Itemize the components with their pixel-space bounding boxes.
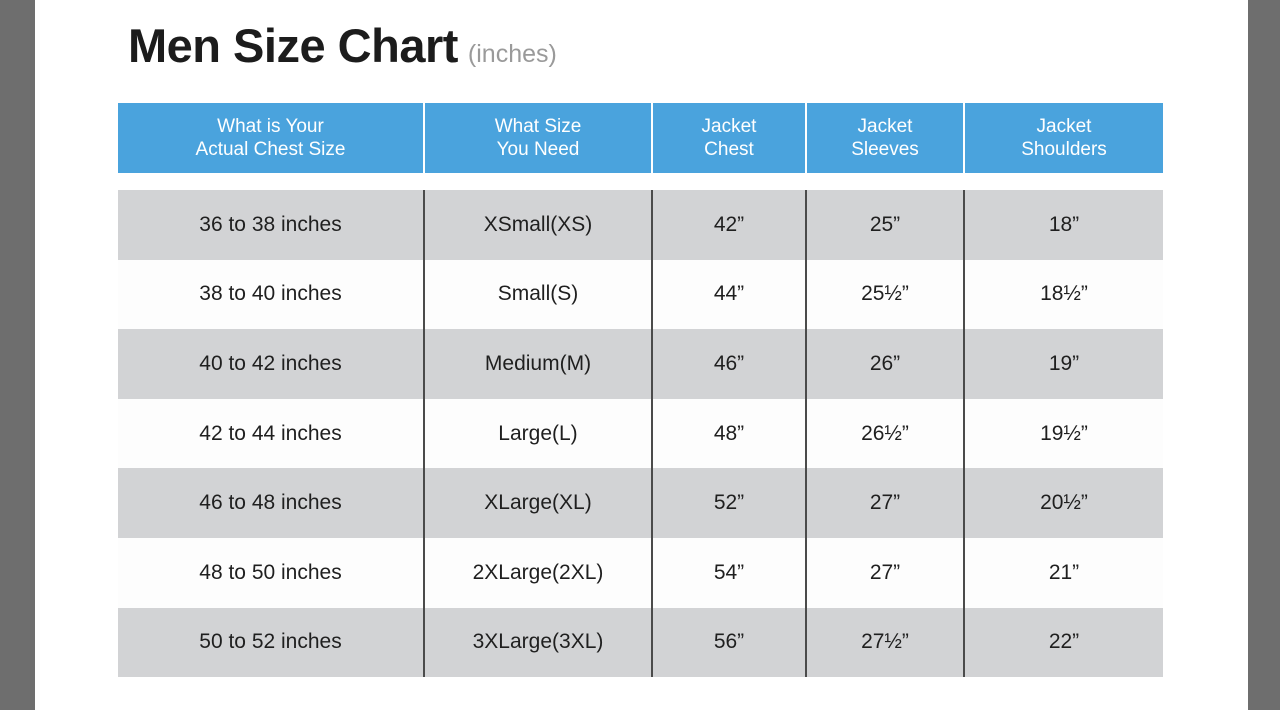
column-header-actual-chest: What is Your Actual Chest Size [118, 103, 425, 173]
cell-actual-chest: 38 to 40 inches [118, 260, 425, 330]
column-header-line-1: What is Your [217, 115, 324, 138]
cell-jacket-chest: 42” [653, 190, 807, 260]
table-row: 36 to 38 inches XSmall(XS) 42” 25” 18” [118, 190, 1163, 260]
cell-jacket-chest: 52” [653, 468, 807, 538]
page-title-main: Men Size Chart [128, 22, 458, 69]
table-row: 48 to 50 inches 2XLarge(2XL) 54” 27” 21” [118, 538, 1163, 608]
cell-actual-chest: 50 to 52 inches [118, 608, 425, 678]
cell-actual-chest: 36 to 38 inches [118, 190, 425, 260]
column-header-jacket-shoulders: Jacket Shoulders [965, 103, 1163, 173]
page-title: Men Size Chart (inches) [128, 22, 557, 69]
cell-jacket-sleeves: 26” [807, 329, 965, 399]
cell-jacket-sleeves: 27½” [807, 608, 965, 678]
table-row: 42 to 44 inches Large(L) 48” 26½” 19½” [118, 399, 1163, 469]
cell-jacket-shoulders: 21” [965, 538, 1163, 608]
column-header-line-2: Sleeves [851, 138, 919, 161]
table-row: 40 to 42 inches Medium(M) 46” 26” 19” [118, 329, 1163, 399]
table-row: 46 to 48 inches XLarge(XL) 52” 27” 20½” [118, 468, 1163, 538]
column-header-line-1: Jacket [702, 115, 757, 138]
column-header-line-1: Jacket [1037, 115, 1092, 138]
letterbox-bar-left [0, 0, 35, 710]
cell-jacket-sleeves: 27” [807, 468, 965, 538]
size-chart-table: What is Your Actual Chest Size What Size… [118, 103, 1163, 677]
cell-jacket-chest: 54” [653, 538, 807, 608]
cell-jacket-chest: 48” [653, 399, 807, 469]
table-row: 38 to 40 inches Small(S) 44” 25½” 18½” [118, 260, 1163, 330]
column-header-jacket-sleeves: Jacket Sleeves [807, 103, 965, 173]
cell-size-needed: XLarge(XL) [425, 468, 653, 538]
cell-jacket-shoulders: 18” [965, 190, 1163, 260]
table-header-row: What is Your Actual Chest Size What Size… [118, 103, 1163, 173]
cell-actual-chest: 48 to 50 inches [118, 538, 425, 608]
column-header-line-2: You Need [497, 138, 580, 161]
header-body-gap [118, 173, 1163, 190]
cell-actual-chest: 46 to 48 inches [118, 468, 425, 538]
cell-jacket-shoulders: 19½” [965, 399, 1163, 469]
cell-jacket-shoulders: 20½” [965, 468, 1163, 538]
column-header-line-1: What Size [495, 115, 582, 138]
page-title-units: (inches) [468, 42, 557, 67]
cell-jacket-chest: 46” [653, 329, 807, 399]
cell-actual-chest: 42 to 44 inches [118, 399, 425, 469]
cell-jacket-shoulders: 22” [965, 608, 1163, 678]
cell-size-needed: 2XLarge(2XL) [425, 538, 653, 608]
cell-jacket-sleeves: 26½” [807, 399, 965, 469]
cell-jacket-sleeves: 25½” [807, 260, 965, 330]
cell-size-needed: Medium(M) [425, 329, 653, 399]
letterbox-bar-right [1248, 0, 1280, 710]
cell-size-needed: XSmall(XS) [425, 190, 653, 260]
cell-jacket-shoulders: 19” [965, 329, 1163, 399]
cell-jacket-chest: 56” [653, 608, 807, 678]
column-header-size-needed: What Size You Need [425, 103, 653, 173]
table-row: 50 to 52 inches 3XLarge(3XL) 56” 27½” 22… [118, 608, 1163, 678]
cell-jacket-shoulders: 18½” [965, 260, 1163, 330]
column-header-line-2: Shoulders [1021, 138, 1107, 161]
size-chart-page: Men Size Chart (inches) What is Your Act… [35, 0, 1248, 710]
column-header-line-2: Chest [704, 138, 754, 161]
cell-jacket-sleeves: 25” [807, 190, 965, 260]
cell-actual-chest: 40 to 42 inches [118, 329, 425, 399]
cell-jacket-chest: 44” [653, 260, 807, 330]
cell-size-needed: Large(L) [425, 399, 653, 469]
column-header-line-1: Jacket [858, 115, 913, 138]
cell-jacket-sleeves: 27” [807, 538, 965, 608]
cell-size-needed: Small(S) [425, 260, 653, 330]
cell-size-needed: 3XLarge(3XL) [425, 608, 653, 678]
column-header-line-2: Actual Chest Size [196, 138, 346, 161]
column-header-jacket-chest: Jacket Chest [653, 103, 807, 173]
